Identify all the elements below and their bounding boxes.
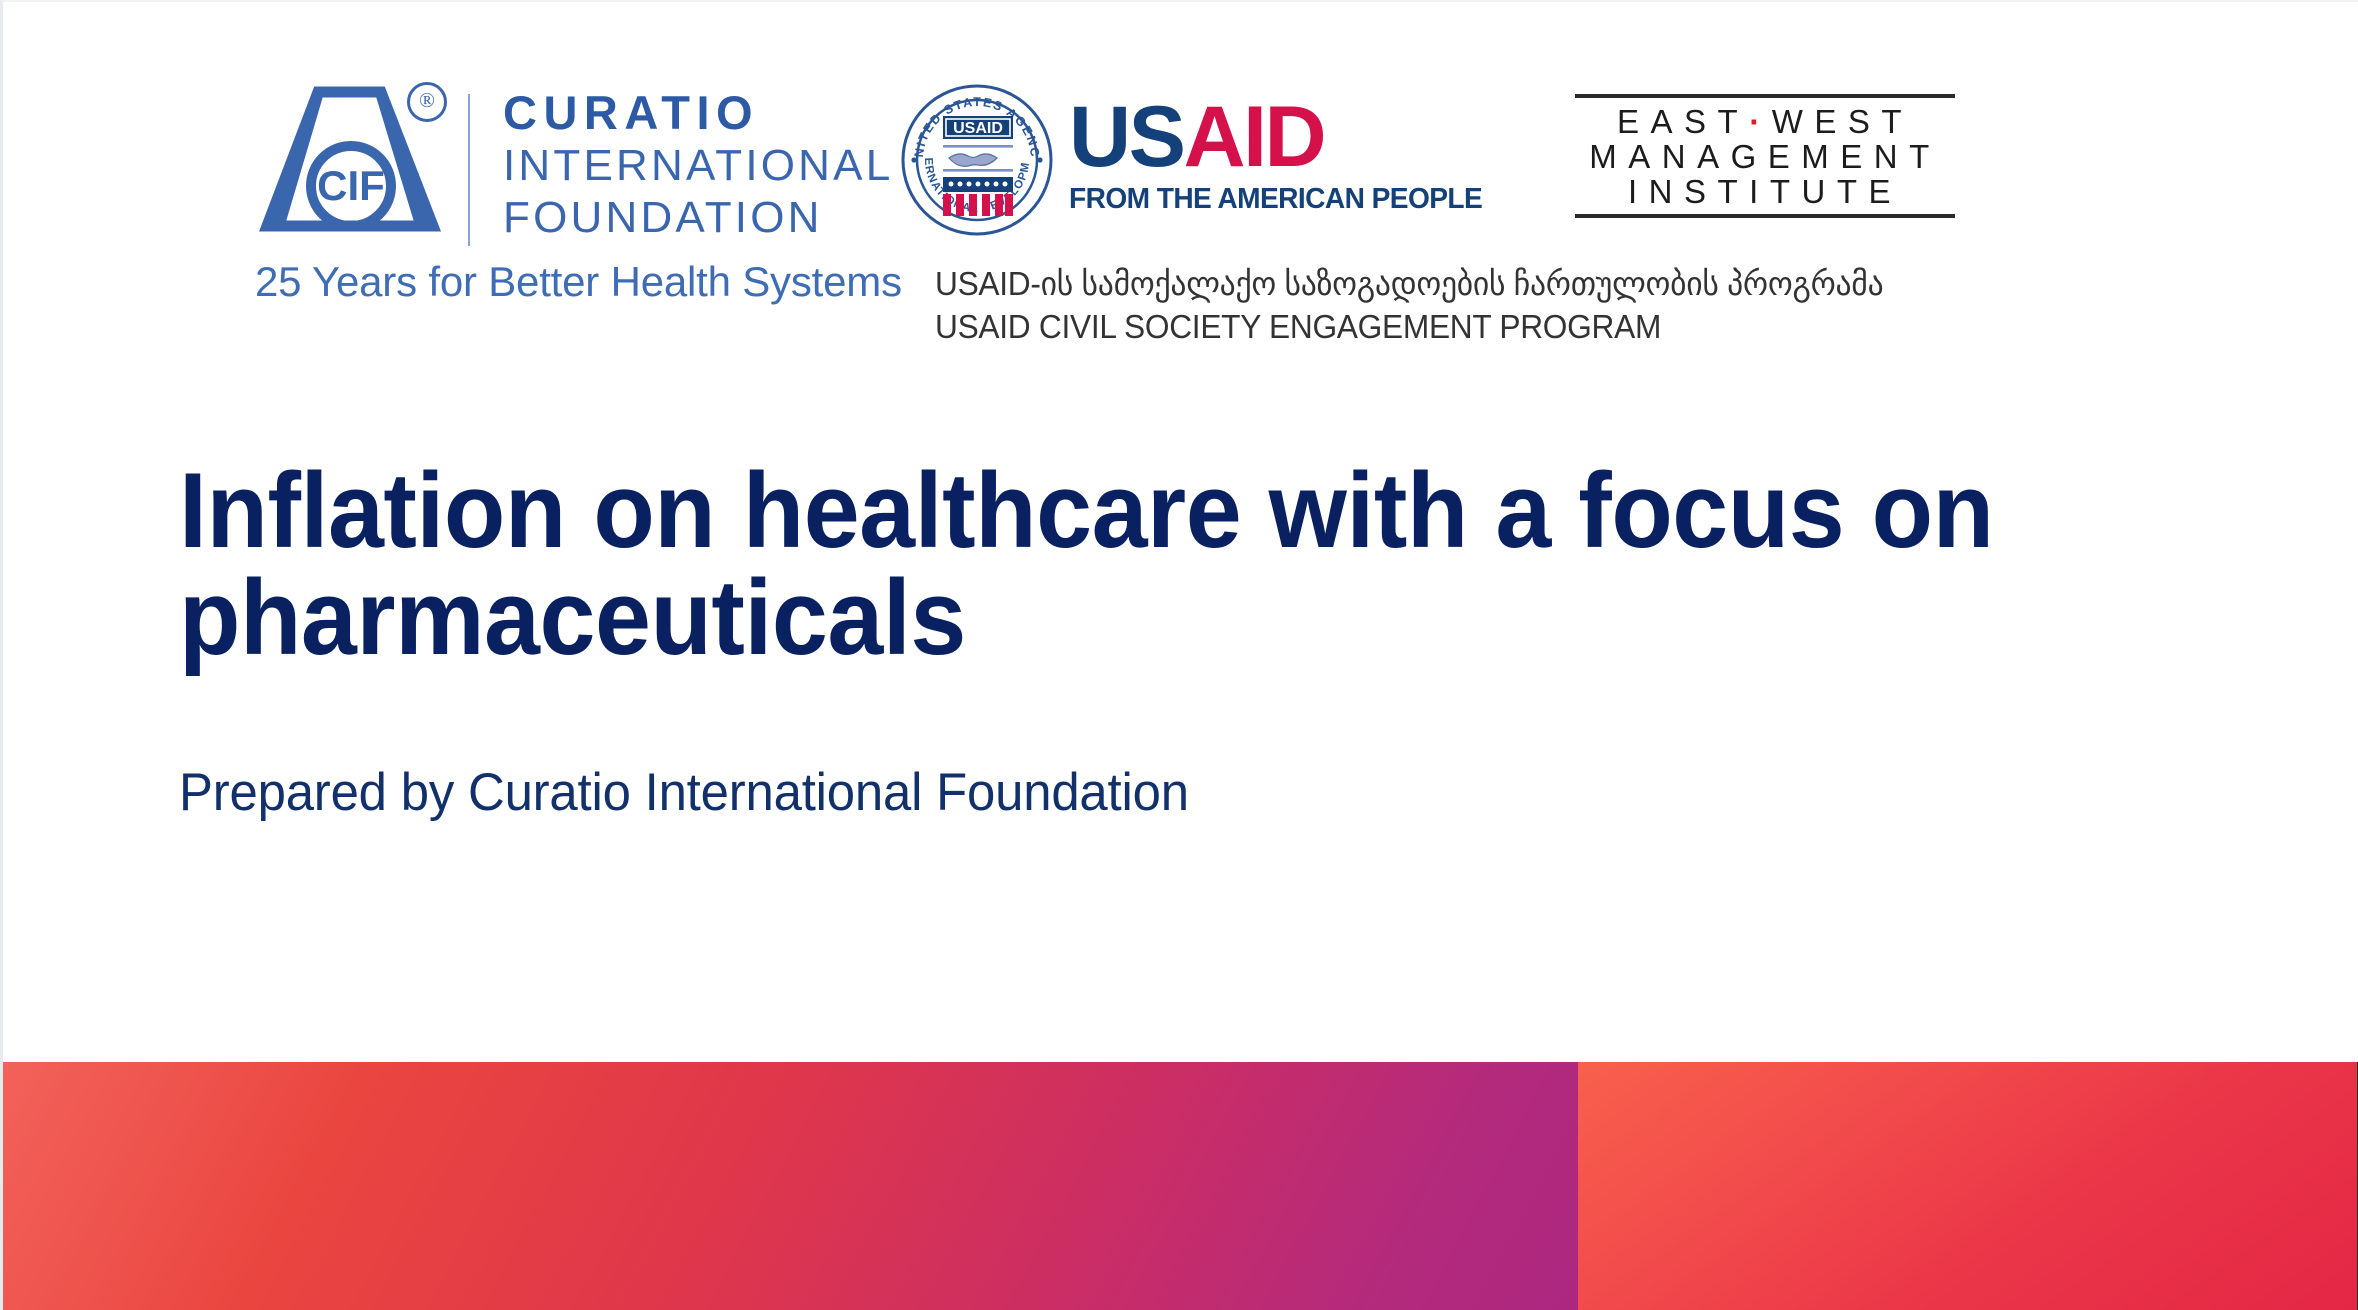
cif-tagline: 25 Years for Better Health Systems bbox=[255, 258, 895, 306]
program-caption: USAID-ის სამოქალაქო საზოგადოების ჩართულო… bbox=[935, 262, 1995, 348]
usaid-wordmark-aid: AID bbox=[1183, 89, 1324, 185]
ewmi-line-2: MANAGEMENT bbox=[1575, 139, 1955, 174]
ewmi-wordmark: EAST·WEST MANAGEMENT INSTITUTE bbox=[1575, 98, 1955, 211]
ewmi-line-1: EAST·WEST bbox=[1575, 104, 1955, 139]
program-caption-georgian: USAID-ის სამოქალაქო საზოგადოების ჩართულო… bbox=[935, 262, 1953, 305]
cif-wordmark: CURATIO INTERNATIONAL FOUNDATION bbox=[503, 86, 883, 244]
ewmi-bottom-rule bbox=[1575, 214, 1955, 218]
usaid-logo: UNITED STATES AGENCY INTERNATIONAL DEVEL… bbox=[901, 84, 1421, 234]
ewmi-separator-dot-icon: · bbox=[1749, 103, 1772, 140]
cif-wordmark-line-3: FOUNDATION bbox=[503, 192, 883, 244]
cif-wordmark-line-2: INTERNATIONAL bbox=[503, 140, 883, 192]
svg-text:CIF: CIF bbox=[317, 162, 385, 209]
curatio-international-foundation-logo: CIF ® CURATIO INTERNATIONAL FOUNDATION 2… bbox=[255, 80, 875, 310]
title-block: Inflation on healthcare with a focus on … bbox=[179, 457, 2239, 823]
ewmi-line-3: INSTITUTE bbox=[1575, 174, 1955, 209]
program-caption-english: USAID CIVIL SOCIETY ENGAGEMENT PROGRAM bbox=[935, 305, 1953, 348]
ewmi-west-text: WEST bbox=[1772, 103, 1913, 140]
cif-wordmark-line-1: CURATIO bbox=[503, 86, 883, 140]
usaid-wordmark-text: USAID bbox=[1069, 92, 1419, 182]
logo-bar: CIF ® CURATIO INTERNATIONAL FOUNDATION 2… bbox=[3, 2, 2358, 362]
page-subtitle: Prepared by Curatio International Founda… bbox=[179, 671, 2157, 823]
usaid-wordmark-us: US bbox=[1069, 89, 1183, 185]
east-west-management-institute-logo: EAST·WEST MANAGEMENT INSTITUTE bbox=[1575, 94, 1955, 216]
usaid-tagline: FROM THE AMERICAN PEOPLE bbox=[1069, 182, 1409, 216]
footer-band-left bbox=[3, 1062, 1578, 1310]
svg-text:USAID: USAID bbox=[953, 120, 1003, 137]
logo-divider bbox=[468, 94, 470, 246]
footer-decorative-bands bbox=[3, 1062, 2358, 1310]
footer-band-right bbox=[1578, 1062, 2358, 1310]
registered-trademark-icon: ® bbox=[407, 82, 447, 122]
page-title: Inflation on healthcare with a focus on … bbox=[179, 457, 2115, 671]
ewmi-east-text: EAST bbox=[1617, 103, 1749, 140]
usaid-wordmark: USAID FROM THE AMERICAN PEOPLE bbox=[1069, 92, 1419, 216]
usaid-seal-icon: UNITED STATES AGENCY INTERNATIONAL DEVEL… bbox=[901, 84, 1053, 236]
title-slide: CIF ® CURATIO INTERNATIONAL FOUNDATION 2… bbox=[0, 0, 2358, 1310]
